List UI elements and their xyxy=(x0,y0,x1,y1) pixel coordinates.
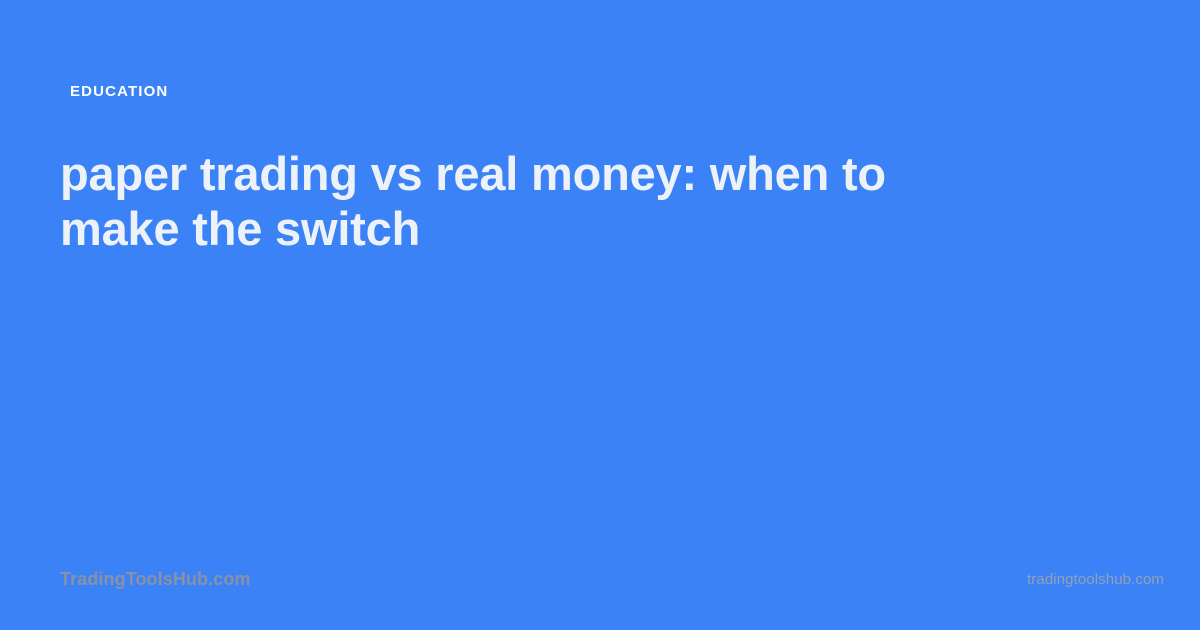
brand-wordmark: TradingToolsHub.com xyxy=(60,568,251,591)
brand-domain: tradingtoolshub.com xyxy=(1027,570,1164,590)
social-share-card: EDUCATION paper trading vs real money: w… xyxy=(0,0,1200,630)
category-label: EDUCATION xyxy=(70,83,168,101)
page-title: paper trading vs real money: when to mak… xyxy=(60,146,1010,256)
